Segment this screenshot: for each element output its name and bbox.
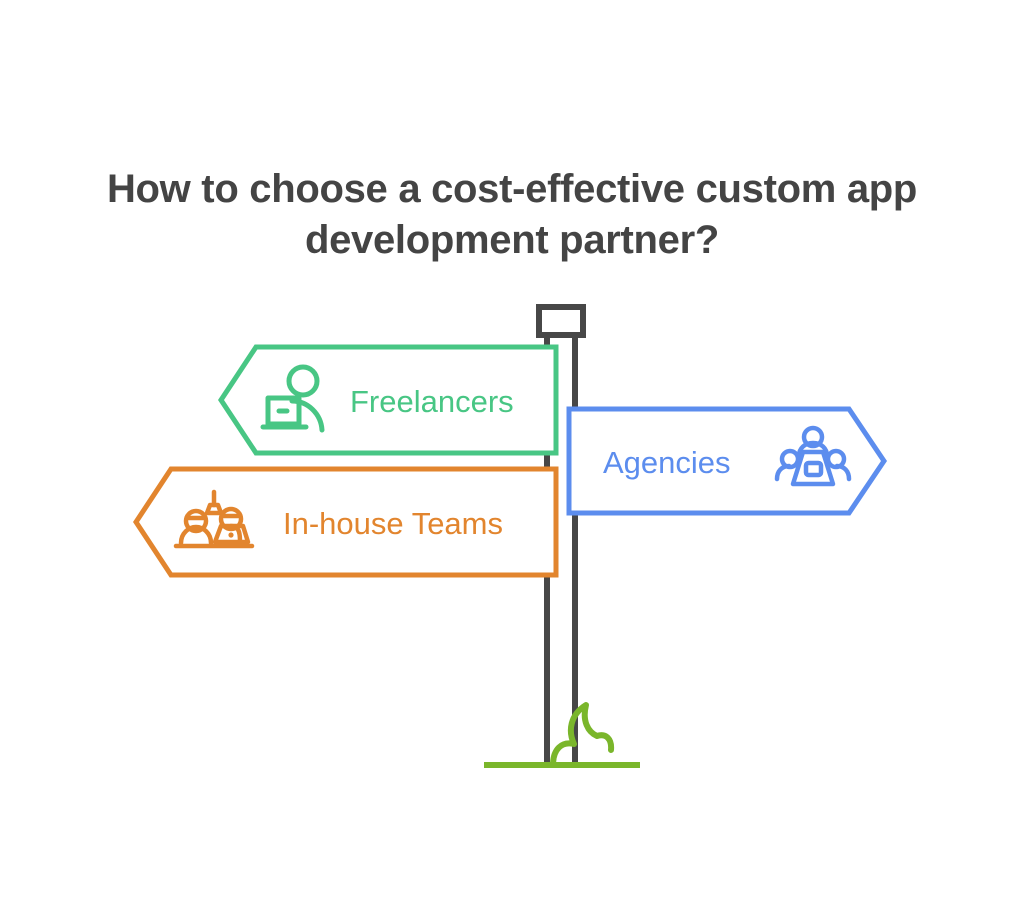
- sign-label-in-house-teams: In-house Teams: [283, 506, 503, 541]
- sign-label-agencies: Agencies: [603, 445, 731, 480]
- sign-freelancers[interactable]: Freelancers: [221, 347, 556, 453]
- ground-and-grass: [484, 705, 640, 765]
- signpost-illustration: Freelancers: [0, 0, 1024, 902]
- sign-in-house-teams[interactable]: In-house Teams: [136, 469, 556, 575]
- sign-agencies[interactable]: Agencies: [569, 409, 884, 513]
- sign-label-freelancers: Freelancers: [350, 384, 514, 419]
- illustration-canvas: How to choose a cost-effective custom ap…: [0, 0, 1024, 902]
